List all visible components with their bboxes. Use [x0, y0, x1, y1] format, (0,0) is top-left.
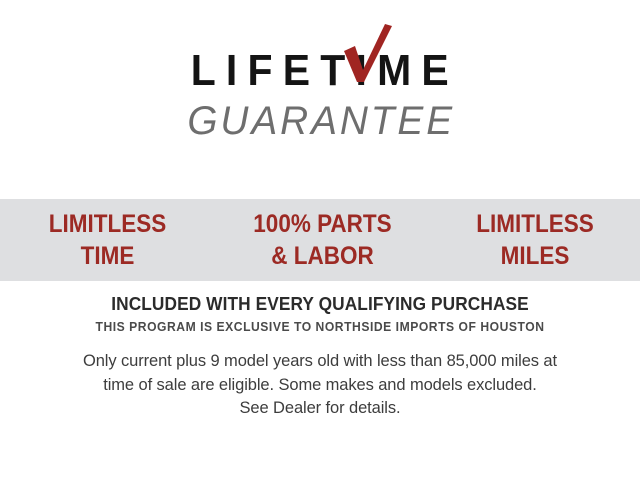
fineprint-line-2: time of sale are eligible. Some makes an…	[40, 374, 600, 397]
headline: INCLUDED WITH EVERY QUALIFYING PURCHASE	[13, 293, 627, 316]
logo-lockup: LIFETIME GUARANTEE	[170, 48, 469, 142]
feature-band: LIMITLESS TIME 100% PARTS & LABOR LIMITL…	[0, 199, 640, 281]
feature-line1: LIMITLESS	[11, 208, 205, 240]
lifetime-guarantee-ad: LIFETIME GUARANTEE LIMITLESS TIME 100% P…	[0, 0, 640, 480]
fineprint-line-1: Only current plus 9 model years old with…	[40, 350, 600, 373]
feature-limitless-time: LIMITLESS TIME	[11, 208, 205, 272]
feature-line1: 100% PARTS	[226, 208, 420, 240]
feature-line2: MILES	[441, 240, 630, 272]
feature-limitless-miles: LIMITLESS MILES	[441, 208, 630, 272]
bottom-text-block: INCLUDED WITH EVERY QUALIFYING PURCHASE …	[0, 293, 640, 420]
fineprint-line-3: See Dealer for details.	[40, 397, 600, 420]
logo-guarantee-text: GUARANTEE	[175, 100, 465, 142]
logo-block: LIFETIME GUARANTEE	[0, 48, 640, 142]
subheadline: THIS PROGRAM IS EXCLUSIVE TO NORTHSIDE I…	[10, 320, 631, 336]
logo-lifetime-text: LIFETIME	[181, 48, 459, 94]
feature-line2: & LABOR	[226, 240, 420, 272]
feature-line2: TIME	[11, 240, 205, 272]
feature-parts-and-labor: 100% PARTS & LABOR	[226, 208, 420, 272]
fineprint-disclaimer: Only current plus 9 model years old with…	[40, 350, 600, 420]
feature-line1: LIMITLESS	[441, 208, 630, 240]
